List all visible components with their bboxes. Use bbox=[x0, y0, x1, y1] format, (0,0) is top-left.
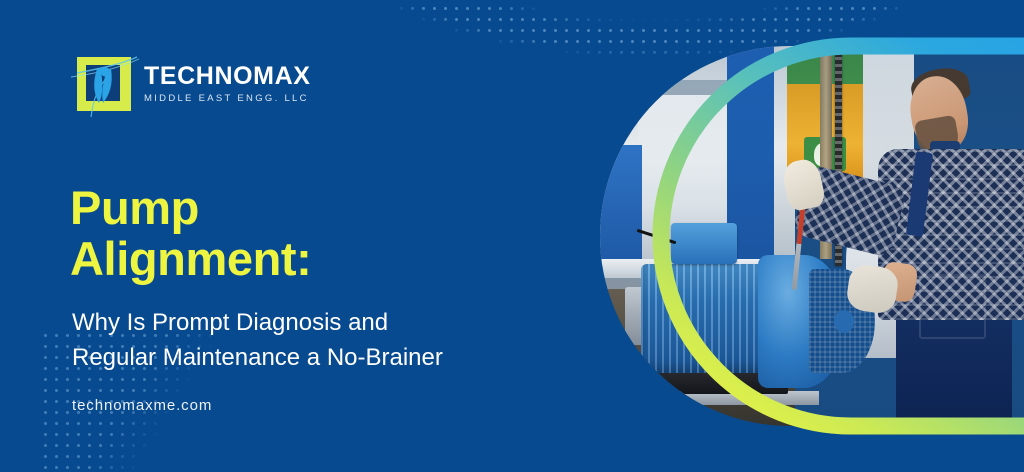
headline-line-2: Alignment: bbox=[70, 232, 311, 285]
technomax-logo-mark-icon bbox=[77, 57, 131, 111]
headline-line-1: Pump bbox=[70, 181, 199, 234]
subhead-line-2: Regular Maintenance a No-Brainer bbox=[72, 344, 443, 371]
brand-logo[interactable]: TECHNOMAX MIDDLE EAST ENGG. LLC bbox=[77, 57, 311, 111]
subhead-line-1: Why Is Prompt Diagnosis and bbox=[72, 309, 388, 336]
gradient-arc-ring bbox=[521, 26, 1024, 446]
page-subtitle: Why Is Prompt Diagnosis and Regular Main… bbox=[72, 306, 592, 376]
logo-company-name: TECHNOMAX bbox=[144, 64, 311, 89]
page-title: Pump Alignment: bbox=[70, 183, 590, 284]
logo-tagline: MIDDLE EAST ENGG. LLC bbox=[144, 94, 311, 104]
promo-banner: TECHNOMAX MIDDLE EAST ENGG. LLC Pump Ali… bbox=[0, 0, 1024, 472]
website-url[interactable]: technomaxme.com bbox=[72, 397, 212, 414]
banner-content: TECHNOMAX MIDDLE EAST ENGG. LLC Pump Ali… bbox=[70, 0, 590, 472]
